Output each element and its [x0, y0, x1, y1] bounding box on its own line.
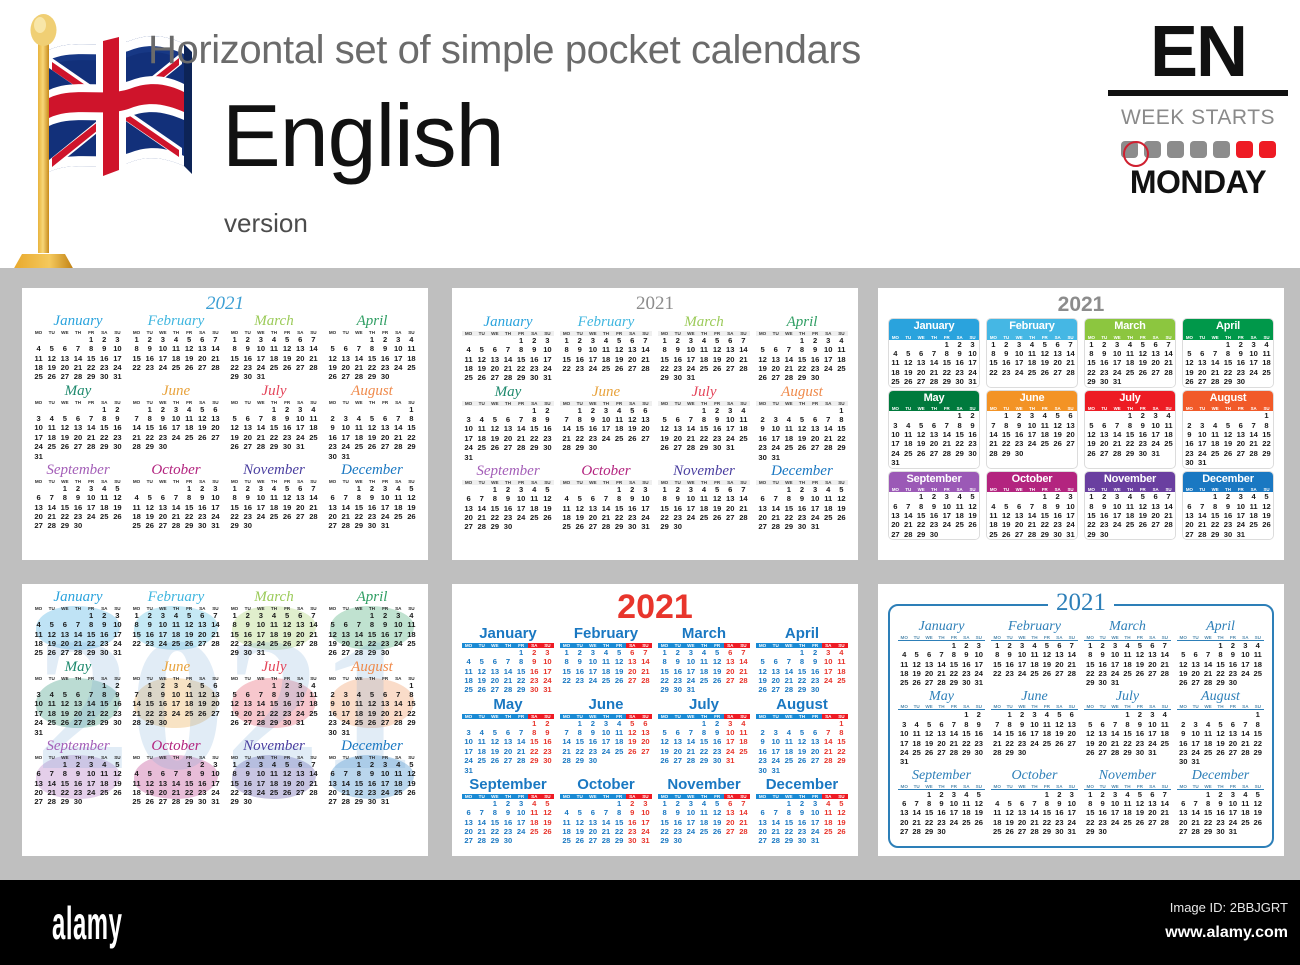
day-cell[interactable]: 23	[1096, 818, 1108, 827]
day-cell[interactable]: 20	[209, 423, 222, 432]
day-cell[interactable]: 14	[1028, 808, 1040, 817]
day-cell[interactable]: 27	[769, 685, 782, 694]
day-cell[interactable]: 25	[1124, 368, 1137, 377]
day-cell[interactable]: 19	[228, 709, 241, 718]
day-cell[interactable]: 21	[209, 354, 222, 363]
day-cell[interactable]: 22	[528, 747, 541, 756]
day-cell[interactable]: 2	[1016, 710, 1028, 720]
day-cell[interactable]: 21	[991, 739, 1003, 748]
day-cell[interactable]: 24	[1146, 739, 1158, 748]
day-cell[interactable]: 3	[169, 681, 182, 690]
day-cell[interactable]: 25	[528, 827, 541, 836]
day-cell[interactable]: 29	[1085, 530, 1098, 539]
day-cell[interactable]: 16	[379, 630, 392, 639]
day-cell[interactable]: 18	[405, 354, 418, 363]
day-cell[interactable]: 13	[671, 424, 684, 433]
day-cell[interactable]: 30	[1096, 827, 1108, 836]
day-cell[interactable]: 17	[889, 439, 902, 448]
day-cell[interactable]: 29	[1124, 449, 1137, 458]
day-cell[interactable]: 17	[966, 358, 979, 367]
day-cell[interactable]: 31	[1189, 757, 1201, 766]
day-cell[interactable]: 24	[339, 442, 352, 451]
day-cell[interactable]: 28	[1162, 520, 1175, 529]
day-cell[interactable]: 5	[1134, 789, 1146, 799]
day-cell[interactable]: 26	[475, 373, 488, 382]
day-cell[interactable]: 29	[1003, 748, 1015, 757]
day-cell[interactable]: 22	[613, 827, 626, 836]
day-cell[interactable]: 6	[294, 611, 307, 620]
day-cell[interactable]: 2	[671, 648, 684, 657]
day-cell[interactable]: 3	[599, 719, 612, 728]
day-cell[interactable]: 4	[599, 648, 612, 657]
day-cell[interactable]: 19	[1134, 660, 1146, 669]
day-cell[interactable]: 5	[326, 344, 339, 353]
day-cell[interactable]: 16	[143, 630, 156, 639]
day-cell[interactable]: 16	[365, 779, 378, 788]
day-cell[interactable]: 22	[795, 676, 808, 685]
day-cell[interactable]: 3	[1146, 710, 1158, 720]
day-cell[interactable]: 10	[586, 345, 599, 354]
day-cell[interactable]: 17	[209, 503, 222, 512]
day-cell[interactable]: 27	[1064, 439, 1077, 448]
day-cell[interactable]: 14	[782, 667, 795, 676]
day-cell[interactable]: 15	[405, 699, 418, 708]
day-cell[interactable]: 10	[379, 769, 392, 778]
day-cell[interactable]: 29	[835, 756, 848, 765]
day-cell[interactable]: 18	[1121, 808, 1133, 817]
day-cell[interactable]: 21	[254, 433, 267, 442]
day-cell[interactable]: 6	[501, 728, 514, 737]
day-cell[interactable]: 25	[953, 520, 966, 529]
day-cell[interactable]: 3	[599, 406, 612, 415]
day-cell[interactable]: 16	[671, 355, 684, 364]
day-cell[interactable]: 24	[1064, 520, 1077, 529]
day-cell[interactable]: 30	[1051, 530, 1064, 539]
day-cell[interactable]: 17	[769, 747, 782, 756]
day-cell[interactable]: 15	[782, 504, 795, 513]
day-cell[interactable]: 10	[684, 657, 697, 666]
day-cell[interactable]: 16	[756, 434, 769, 443]
day-cell[interactable]: 1	[228, 611, 241, 620]
day-cell[interactable]: 8	[405, 414, 418, 423]
day-cell[interactable]: 12	[196, 414, 209, 423]
day-cell[interactable]: 6	[326, 493, 339, 502]
day-cell[interactable]: 21	[307, 354, 320, 363]
day-cell[interactable]: 24	[169, 709, 182, 718]
day-cell[interactable]: 28	[991, 748, 1003, 757]
day-cell[interactable]: 14	[254, 423, 267, 432]
day-cell[interactable]: 14	[501, 355, 514, 364]
day-cell[interactable]: 30	[379, 648, 392, 657]
day-cell[interactable]: 20	[1149, 511, 1162, 520]
day-cell[interactable]: 10	[392, 344, 405, 353]
day-cell[interactable]: 1	[98, 681, 111, 690]
day-cell[interactable]: 12	[1177, 660, 1189, 669]
day-cell[interactable]: 29	[85, 372, 98, 381]
day-cell[interactable]: 22	[85, 639, 98, 648]
month-block[interactable]: JulyMOTUWETHFRSASU 123456789101112131415…	[658, 697, 750, 775]
day-cell[interactable]: 9	[1016, 720, 1028, 729]
day-cell[interactable]: 29	[515, 373, 528, 382]
day-cell[interactable]: 3	[254, 760, 267, 769]
day-cell[interactable]: 19	[281, 779, 294, 788]
day-cell[interactable]: 10	[639, 494, 652, 503]
day-cell[interactable]: 8	[58, 493, 71, 502]
day-cell[interactable]: 1	[267, 405, 280, 414]
day-cell[interactable]: 20	[809, 434, 822, 443]
day-cell[interactable]: 25	[1252, 669, 1264, 678]
day-cell[interactable]: 14	[935, 660, 947, 669]
day-cell[interactable]: 26	[1084, 748, 1096, 757]
day-cell[interactable]: 1	[1084, 640, 1096, 650]
day-cell[interactable]: 23	[281, 709, 294, 718]
day-cell[interactable]: 12	[658, 424, 671, 433]
day-cell[interactable]: 3	[254, 611, 267, 620]
day-cell[interactable]: 11	[960, 799, 972, 808]
day-cell[interactable]: 9	[98, 344, 111, 353]
day-cell[interactable]: 21	[769, 513, 782, 522]
day-cell[interactable]: 14	[560, 424, 573, 433]
day-cell[interactable]: 20	[626, 667, 639, 676]
day-cell[interactable]: 11	[98, 769, 111, 778]
day-cell[interactable]: 26	[196, 709, 209, 718]
day-cell[interactable]: 25	[991, 827, 1003, 836]
day-cell[interactable]: 18	[267, 779, 280, 788]
day-cell[interactable]: 19	[196, 423, 209, 432]
day-cell[interactable]: 29	[365, 372, 378, 381]
day-cell[interactable]: 2	[241, 484, 254, 493]
day-cell[interactable]: 29	[613, 522, 626, 531]
day-cell[interactable]: 11	[613, 728, 626, 737]
day-cell[interactable]: 28	[940, 449, 953, 458]
day-cell[interactable]: 25	[475, 443, 488, 452]
day-cell[interactable]: 12	[626, 415, 639, 424]
day-cell[interactable]: 14	[501, 667, 514, 676]
day-cell[interactable]: 31	[684, 685, 697, 694]
day-cell[interactable]: 20	[462, 827, 475, 836]
day-cell[interactable]: 24	[462, 756, 475, 765]
day-cell[interactable]: 1	[1085, 492, 1098, 501]
day-cell[interactable]: 7	[307, 760, 320, 769]
day-cell[interactable]: 19	[475, 676, 488, 685]
day-cell[interactable]: 30	[756, 453, 769, 462]
day-cell[interactable]: 2	[1136, 411, 1149, 420]
day-cell[interactable]: 2	[156, 405, 169, 414]
day-cell[interactable]: 1	[658, 336, 671, 345]
day-cell[interactable]: 20	[339, 639, 352, 648]
day-cell[interactable]: 27	[1096, 748, 1108, 757]
day-cell[interactable]: 27	[1227, 748, 1239, 757]
day-cell[interactable]: 7	[560, 415, 573, 424]
day-cell[interactable]: 7	[475, 494, 488, 503]
day-cell[interactable]: 25	[560, 836, 573, 845]
day-cell[interactable]: 5	[658, 415, 671, 424]
day-cell[interactable]: 16	[1222, 511, 1235, 520]
day-cell[interactable]: 18	[697, 504, 710, 513]
day-cell[interactable]: 15	[183, 779, 196, 788]
day-cell[interactable]: 27	[671, 756, 684, 765]
day-cell[interactable]: 23	[379, 363, 392, 372]
day-cell[interactable]: 12	[613, 657, 626, 666]
day-cell[interactable]: 6	[1098, 421, 1111, 430]
day-cell[interactable]: 14	[1209, 358, 1222, 367]
day-cell[interactable]: 23	[1183, 449, 1196, 458]
month-block[interactable]: JulyMOTUWETHFRSASU 123456789101112131415…	[228, 660, 320, 737]
day-cell[interactable]: 3	[462, 728, 475, 737]
day-cell[interactable]: 20	[501, 434, 514, 443]
day-cell[interactable]: 2	[326, 690, 339, 699]
day-cell[interactable]: 28	[307, 363, 320, 372]
day-cell[interactable]: 30	[1053, 827, 1065, 836]
day-cell[interactable]: 16	[671, 818, 684, 827]
day-cell[interactable]: 26	[1085, 449, 1098, 458]
day-cell[interactable]: 12	[1214, 729, 1226, 738]
day-cell[interactable]: 6	[671, 728, 684, 737]
day-cell[interactable]: 17	[822, 355, 835, 364]
day-cell[interactable]: 9	[1183, 430, 1196, 439]
day-cell[interactable]: 8	[405, 690, 418, 699]
day-cell[interactable]: 15	[267, 699, 280, 708]
day-cell[interactable]: 15	[795, 355, 808, 364]
day-cell[interactable]: 19	[973, 808, 985, 817]
day-cell[interactable]: 13	[1149, 502, 1162, 511]
day-cell[interactable]: 21	[1026, 520, 1039, 529]
day-cell[interactable]: 29	[143, 718, 156, 727]
day-cell[interactable]: 11	[1260, 349, 1273, 358]
day-cell[interactable]: 15	[143, 423, 156, 432]
day-cell[interactable]: 12	[1136, 502, 1149, 511]
day-cell[interactable]: 19	[1136, 358, 1149, 367]
day-cell[interactable]: 5	[756, 345, 769, 354]
day-cell[interactable]: 30	[671, 373, 684, 382]
day-cell[interactable]: 22	[658, 513, 671, 522]
day-cell[interactable]: 24	[898, 748, 910, 757]
month-block[interactable]: OctoberMOTUWETHFRSASU 123456789101112131…	[130, 463, 222, 531]
day-cell[interactable]: 28	[392, 718, 405, 727]
day-cell[interactable]: 22	[1214, 669, 1226, 678]
day-cell[interactable]: 8	[183, 493, 196, 502]
month-block[interactable]: NovemberMOTUWETHFRSASU123456789101112131…	[658, 464, 750, 532]
day-cell[interactable]: 29	[228, 521, 241, 530]
day-cell[interactable]: 24	[1149, 439, 1162, 448]
day-cell[interactable]: 23	[1051, 520, 1064, 529]
day-cell[interactable]: 4	[1028, 640, 1040, 650]
day-cell[interactable]: 30	[973, 748, 985, 757]
day-cell[interactable]: 26	[405, 512, 418, 521]
day-cell[interactable]: 26	[966, 520, 979, 529]
day-cell[interactable]: 1	[1209, 492, 1222, 501]
day-cell[interactable]: 10	[769, 424, 782, 433]
day-cell[interactable]: 24	[809, 513, 822, 522]
day-cell[interactable]: 24	[339, 718, 352, 727]
day-cell[interactable]: 16	[541, 737, 554, 746]
day-cell[interactable]: 22	[1084, 818, 1096, 827]
day-cell[interactable]: 9	[365, 493, 378, 502]
day-cell[interactable]: 6	[1096, 720, 1108, 729]
day-cell[interactable]: 12	[281, 620, 294, 629]
day-cell[interactable]: 10	[1189, 729, 1201, 738]
day-cell[interactable]: 12	[795, 737, 808, 746]
day-cell[interactable]: 22	[960, 739, 972, 748]
day-cell[interactable]: 9	[98, 620, 111, 629]
day-cell[interactable]: 10	[822, 657, 835, 666]
day-cell[interactable]: 9	[671, 808, 684, 817]
day-cell[interactable]: 20	[241, 433, 254, 442]
day-cell[interactable]: 11	[392, 493, 405, 502]
day-cell[interactable]: 13	[501, 737, 514, 746]
day-cell[interactable]: 20	[586, 513, 599, 522]
day-cell[interactable]: 16	[111, 423, 124, 432]
day-cell[interactable]: 8	[948, 650, 960, 659]
day-cell[interactable]: 20	[1096, 739, 1108, 748]
day-cell[interactable]: 16	[1013, 430, 1026, 439]
day-cell[interactable]: 5	[1041, 640, 1053, 650]
day-cell[interactable]: 21	[307, 503, 320, 512]
day-cell[interactable]: 19	[910, 669, 922, 678]
day-cell[interactable]: 19	[1222, 439, 1235, 448]
day-cell[interactable]: 18	[183, 423, 196, 432]
day-cell[interactable]: 7	[769, 808, 782, 817]
day-cell[interactable]: 11	[737, 415, 750, 424]
day-cell[interactable]: 8	[183, 769, 196, 778]
day-cell[interactable]: 26	[902, 377, 915, 386]
day-cell[interactable]: 3	[1239, 640, 1251, 650]
month-block[interactable]: SeptemberMOTUWETHFRSASU 1234567891011121…	[462, 464, 554, 532]
day-cell[interactable]: 18	[835, 667, 848, 676]
day-cell[interactable]: 31	[1066, 827, 1078, 836]
day-cell[interactable]: 9	[626, 494, 639, 503]
day-cell[interactable]: 28	[902, 530, 915, 539]
day-cell[interactable]: 18	[697, 818, 710, 827]
day-cell[interactable]: 18	[987, 520, 1000, 529]
day-cell[interactable]: 12	[143, 779, 156, 788]
day-cell[interactable]: 13	[724, 657, 737, 666]
day-cell[interactable]: 26	[541, 513, 554, 522]
day-cell[interactable]: 14	[209, 344, 222, 353]
day-cell[interactable]: 18	[898, 669, 910, 678]
day-cell[interactable]: 12	[658, 737, 671, 746]
day-cell[interactable]: 2	[365, 760, 378, 769]
day-cell[interactable]: 25	[1026, 368, 1039, 377]
day-cell[interactable]: 22	[658, 364, 671, 373]
day-cell[interactable]: 9	[573, 657, 586, 666]
day-cell[interactable]: 22	[1260, 439, 1273, 448]
day-cell[interactable]: 13	[626, 345, 639, 354]
day-cell[interactable]: 20	[241, 709, 254, 718]
day-cell[interactable]: 19	[1260, 511, 1273, 520]
day-cell[interactable]: 2	[626, 485, 639, 494]
month-block[interactable]: NovemberMOTUWETHFRSASU123456789101112131…	[1084, 471, 1176, 541]
day-cell[interactable]: 3	[85, 484, 98, 493]
day-cell[interactable]: 11	[991, 808, 1003, 817]
day-cell[interactable]: 25	[1159, 739, 1171, 748]
day-cell[interactable]: 23	[98, 363, 111, 372]
day-cell[interactable]: 27	[32, 521, 45, 530]
day-cell[interactable]: 11	[697, 345, 710, 354]
month-block[interactable]: AugustMOTUWETHFRSASU 1234567891011121314…	[756, 697, 848, 775]
day-cell[interactable]: 22	[405, 433, 418, 442]
day-cell[interactable]: 4	[560, 494, 573, 503]
day-cell[interactable]: 16	[586, 737, 599, 746]
day-cell[interactable]: 15	[948, 660, 960, 669]
day-cell[interactable]: 31	[1149, 449, 1162, 458]
day-cell[interactable]: 27	[294, 639, 307, 648]
day-cell[interactable]: 23	[111, 709, 124, 718]
day-cell[interactable]: 7	[737, 799, 750, 808]
day-cell[interactable]: 18	[1026, 358, 1039, 367]
day-cell[interactable]: 17	[111, 354, 124, 363]
day-cell[interactable]: 13	[724, 494, 737, 503]
day-cell[interactable]: 2	[711, 719, 724, 728]
day-cell[interactable]: 15	[1003, 729, 1015, 738]
day-cell[interactable]: 25	[307, 709, 320, 718]
day-cell[interactable]: 29	[183, 797, 196, 806]
day-cell[interactable]: 31	[462, 766, 475, 775]
day-cell[interactable]: 1	[352, 760, 365, 769]
month-block[interactable]: JuneMOTUWETHFRSASU 123456789101112131415…	[560, 385, 652, 462]
month-block[interactable]: JuneMOTUWETHFRSASU 123456789101112131415…	[130, 384, 222, 461]
day-cell[interactable]: 15	[1000, 430, 1013, 439]
day-cell[interactable]: 7	[1239, 720, 1251, 729]
day-cell[interactable]: 15	[795, 667, 808, 676]
day-cell[interactable]: 27	[501, 756, 514, 765]
day-cell[interactable]: 8	[352, 769, 365, 778]
day-cell[interactable]: 30	[98, 648, 111, 657]
day-cell[interactable]: 19	[711, 818, 724, 827]
day-cell[interactable]: 7	[209, 335, 222, 344]
day-cell[interactable]: 20	[923, 669, 935, 678]
day-cell[interactable]: 24	[1013, 368, 1026, 377]
day-cell[interactable]: 14	[639, 345, 652, 354]
day-cell[interactable]: 12	[1051, 421, 1064, 430]
day-cell[interactable]: 17	[392, 354, 405, 363]
day-cell[interactable]: 31	[32, 452, 45, 461]
day-cell[interactable]: 21	[515, 434, 528, 443]
month-block[interactable]: AugustMOTUWETHFRSASU 1234567891011121314…	[1182, 390, 1274, 469]
month-block[interactable]: NovemberMOTUWETHFRSASU123456789101112131…	[228, 463, 320, 531]
day-cell[interactable]: 23	[1016, 739, 1028, 748]
day-cell[interactable]: 10	[724, 728, 737, 737]
day-cell[interactable]: 16	[1136, 430, 1149, 439]
day-cell[interactable]: 2	[928, 492, 941, 501]
day-cell[interactable]: 14	[209, 620, 222, 629]
day-cell[interactable]: 8	[488, 494, 501, 503]
day-cell[interactable]: 29	[1084, 827, 1096, 836]
day-cell[interactable]: 17	[973, 660, 985, 669]
day-cell[interactable]: 6	[586, 494, 599, 503]
day-cell[interactable]: 16	[71, 779, 84, 788]
day-cell[interactable]: 21	[940, 439, 953, 448]
day-cell[interactable]: 23	[156, 709, 169, 718]
day-cell[interactable]: 24	[515, 513, 528, 522]
day-cell[interactable]: 10	[1239, 650, 1251, 659]
day-cell[interactable]: 29	[1260, 449, 1273, 458]
day-cell[interactable]: 22	[1124, 439, 1137, 448]
day-cell[interactable]: 26	[326, 648, 339, 657]
day-cell[interactable]: 5	[795, 415, 808, 424]
day-cell[interactable]: 7	[1028, 799, 1040, 808]
day-cell[interactable]: 4	[910, 720, 922, 729]
day-cell[interactable]: 29	[835, 443, 848, 452]
day-cell[interactable]: 9	[966, 421, 979, 430]
day-cell[interactable]: 28	[1066, 669, 1078, 678]
day-cell[interactable]: 26	[923, 748, 935, 757]
day-cell[interactable]: 21	[684, 747, 697, 756]
day-cell[interactable]: 20	[1098, 439, 1111, 448]
day-cell[interactable]: 1	[515, 336, 528, 345]
day-cell[interactable]: 27	[586, 836, 599, 845]
day-cell[interactable]: 2	[1183, 421, 1196, 430]
